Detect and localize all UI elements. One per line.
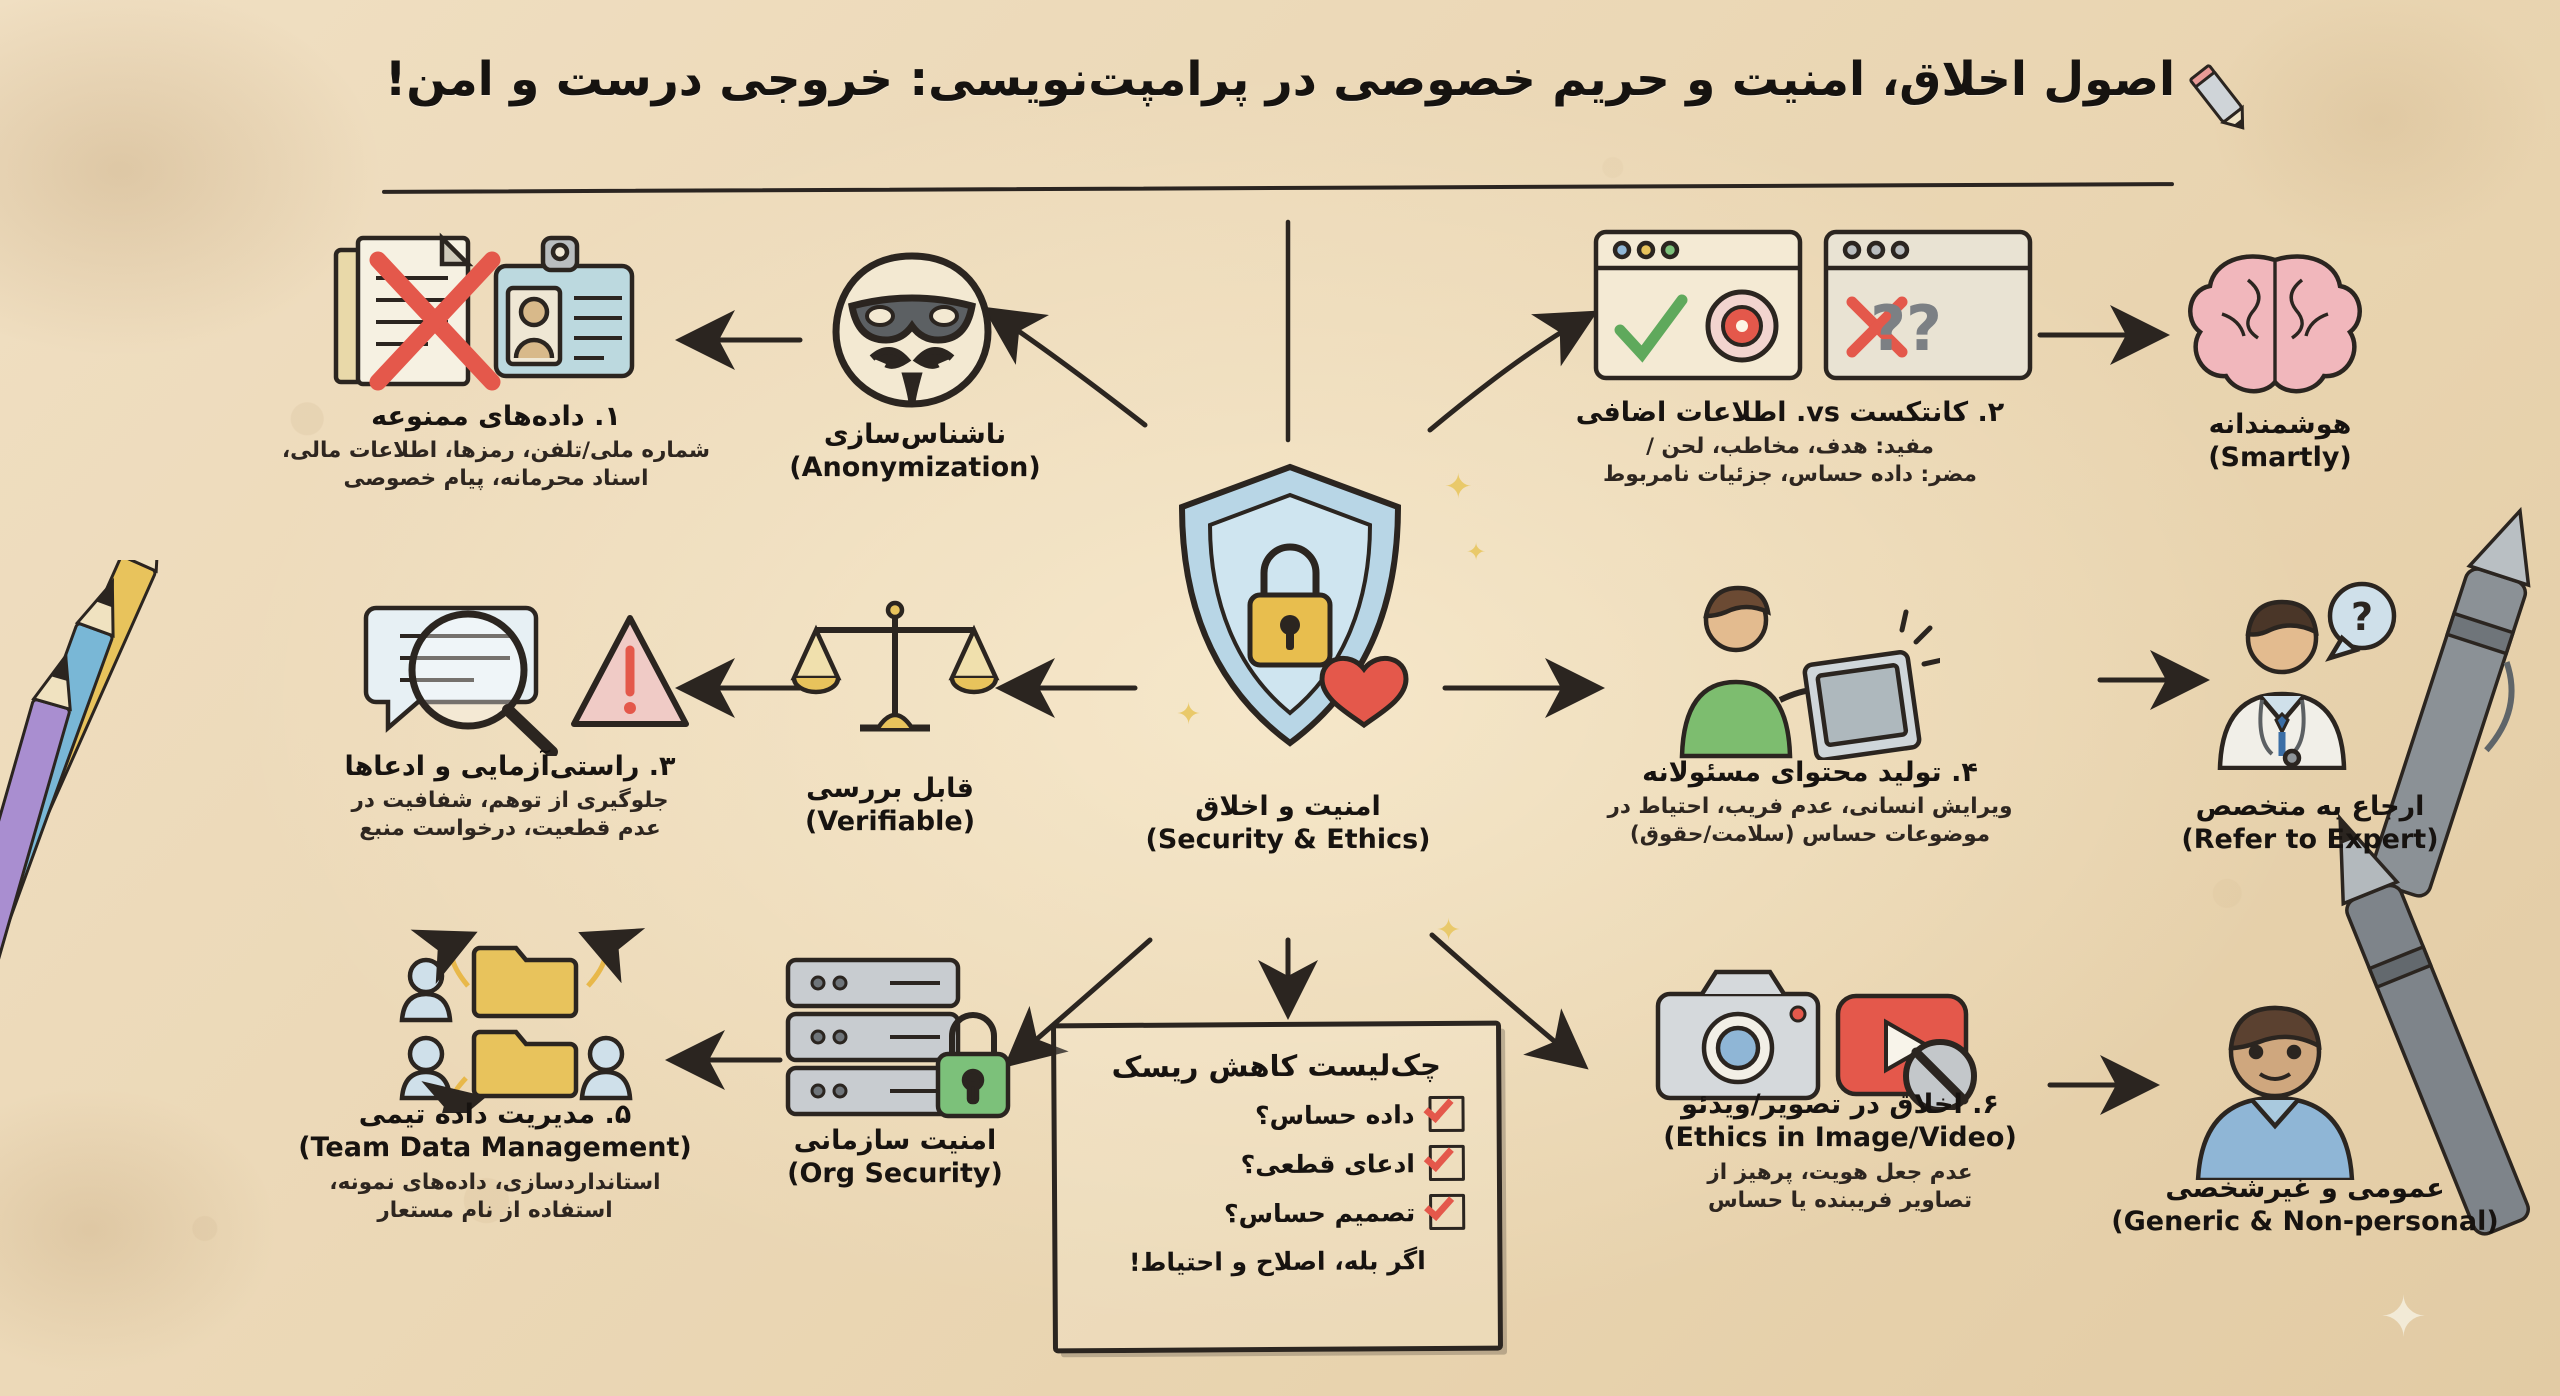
node-subtitle: عدم جعل هویت، پرهیز از تصاویر فریبنده یا… [1560, 1159, 2120, 1215]
node-title-en: (Refer to Expert) [2110, 823, 2510, 856]
node-verifiable: قابل بررسی (Verifiable) [700, 772, 1080, 839]
balance-scale-icon [790, 596, 1000, 756]
checkbox-checked-icon[interactable] [1429, 1145, 1465, 1181]
checkbox-checked-icon[interactable] [1428, 1096, 1464, 1132]
svg-text:?: ? [2351, 595, 2373, 639]
anonymous-avatar-icon [2180, 990, 2370, 1180]
node-title: عمومی و غیرشخصی [2050, 1172, 2560, 1205]
node-refer-to-expert: ارجاع به متخصص (Refer to Expert) [2110, 790, 2510, 857]
document-crossed-out-idcard-icon [318, 232, 648, 392]
node-fact-check-claims: ۳. راستی‌آزمایی و ادعاها جلوگیری از توهم… [250, 750, 770, 843]
node-title: قابل بررسی [700, 772, 1080, 805]
node-title-en: (Verifiable) [700, 805, 1080, 838]
node-title: ۶. اخلاق در تصویر/ویدئو [1560, 1088, 2120, 1121]
node-anonymization: ناشناس‌سازی (Anonymization) [740, 418, 1090, 485]
checklist-item[interactable]: تصمیم حساس؟ [1075, 1194, 1479, 1232]
checklist-title: چک‌لیست کاهش ریسک [1074, 1048, 1478, 1084]
sparkle-icon: ✦ [1176, 700, 1201, 730]
checklist-item-label: ادعای قطعی؟ [1241, 1149, 1415, 1179]
node-title: ارجاع به متخصص [2110, 790, 2510, 823]
sparkle-icon: ✦ [1444, 470, 1473, 504]
checkbox-checked-icon[interactable] [1429, 1194, 1465, 1230]
node-context-vs-extra-info: ۲. کانتکست vs. اطلاعات اضافی مفید: هدف، … [1470, 396, 2110, 489]
node-title: ۲. کانتکست vs. اطلاعات اضافی [1470, 396, 2110, 429]
center-title-fa: امنیت و اخلاق [1098, 790, 1478, 823]
node-title-en: (Anonymization) [740, 451, 1090, 484]
brain-icon [2180, 252, 2370, 402]
node-subtitle: شماره ملی/تلفن، رمزها، اطلاعات مالی، اسن… [236, 437, 756, 493]
node-subtitle: مفید: هدف، مخاطب، لحن / مضر: داده حساس، … [1470, 433, 2110, 489]
title-underline [382, 182, 2174, 194]
server-lock-icon [778, 952, 1018, 1127]
node-smartly: هوشمندانه (Smartly) [2130, 408, 2430, 475]
anonymous-mask-icon [822, 250, 1002, 410]
node-title: ناشناس‌سازی [740, 418, 1090, 451]
sparkle-icon: ✦ [1466, 540, 1486, 564]
node-forbidden-data: ۱. داده‌های ممنوعه شماره ملی/تلفن، رمزها… [236, 400, 756, 493]
checklist-footer: اگر بله، اصلاح و احتیاط! [1075, 1246, 1479, 1277]
node-title: ۴. تولید محتوای مسئولانه [1500, 756, 2120, 789]
infographic-canvas: ✦ اصول اخلاق، امنیت و حریم خصوصی در پرام… [0, 0, 2560, 1396]
node-title: هوشمندانه [2130, 408, 2430, 441]
svg-text:??: ?? [1870, 292, 1942, 365]
node-title-en: (Ethics in Image/Video) [1560, 1121, 2120, 1154]
node-generic-non-personal: عمومی و غیرشخصی (Generic & Non-personal) [2050, 1172, 2560, 1239]
risk-reduction-checklist: چک‌لیست کاهش ریسک داده حساس؟ ادعای قطعی؟… [1051, 1021, 1503, 1354]
node-title: ۳. راستی‌آزمایی و ادعاها [250, 750, 770, 783]
node-title-en: (Org Security) [690, 1157, 1100, 1190]
node-responsible-content: ۴. تولید محتوای مسئولانه ویرایش انسانی، … [1500, 756, 2120, 849]
checklist-item-label: تصمیم حساس؟ [1224, 1198, 1415, 1228]
folder-people-cycle-icon [360, 928, 680, 1113]
page-title-text: اصول اخلاق، امنیت و حریم خصوصی در پرامپت… [385, 52, 2175, 107]
node-title-en: (Smartly) [2130, 441, 2430, 474]
checklist-item[interactable]: داده حساس؟ [1074, 1096, 1478, 1134]
node-subtitle: جلوگیری از توهم، شفافیت در عدم قطعیت، در… [250, 787, 770, 843]
node-title: امنیت سازمانی [690, 1124, 1100, 1157]
pencil-icon [2180, 62, 2270, 132]
magnifier-chat-warning-icon [330, 596, 700, 756]
center-title-en: (Security & Ethics) [1098, 823, 1478, 856]
sparkle-icon: ✦ [2380, 1290, 2427, 1346]
checklist-item[interactable]: ادعای قطعی؟ [1075, 1145, 1479, 1183]
node-subtitle: ویرایش انسانی، عدم فریب، احتیاط در موضوع… [1500, 793, 2120, 849]
checklist-item-label: داده حساس؟ [1255, 1100, 1415, 1130]
node-title: ۱. داده‌های ممنوعه [236, 400, 756, 433]
sparkle-icon: ✦ [1436, 916, 1461, 946]
center-label: امنیت و اخلاق (Security & Ethics) [1098, 790, 1478, 857]
node-org-security: امنیت سازمانی (Org Security) [690, 1124, 1100, 1191]
node-ethics-image-video: ۶. اخلاق در تصویر/ویدئو (Ethics in Image… [1560, 1088, 2120, 1215]
doctor-question-icon: ? [2190, 580, 2410, 770]
page-title: اصول اخلاق، امنیت و حریم خصوصی در پرامپت… [0, 52, 2560, 107]
two-browser-windows-check-cross-icon: ?? [1590, 222, 2040, 392]
node-title-en: (Generic & Non-personal) [2050, 1205, 2560, 1238]
person-writing-tablet-icon [1640, 580, 1940, 760]
